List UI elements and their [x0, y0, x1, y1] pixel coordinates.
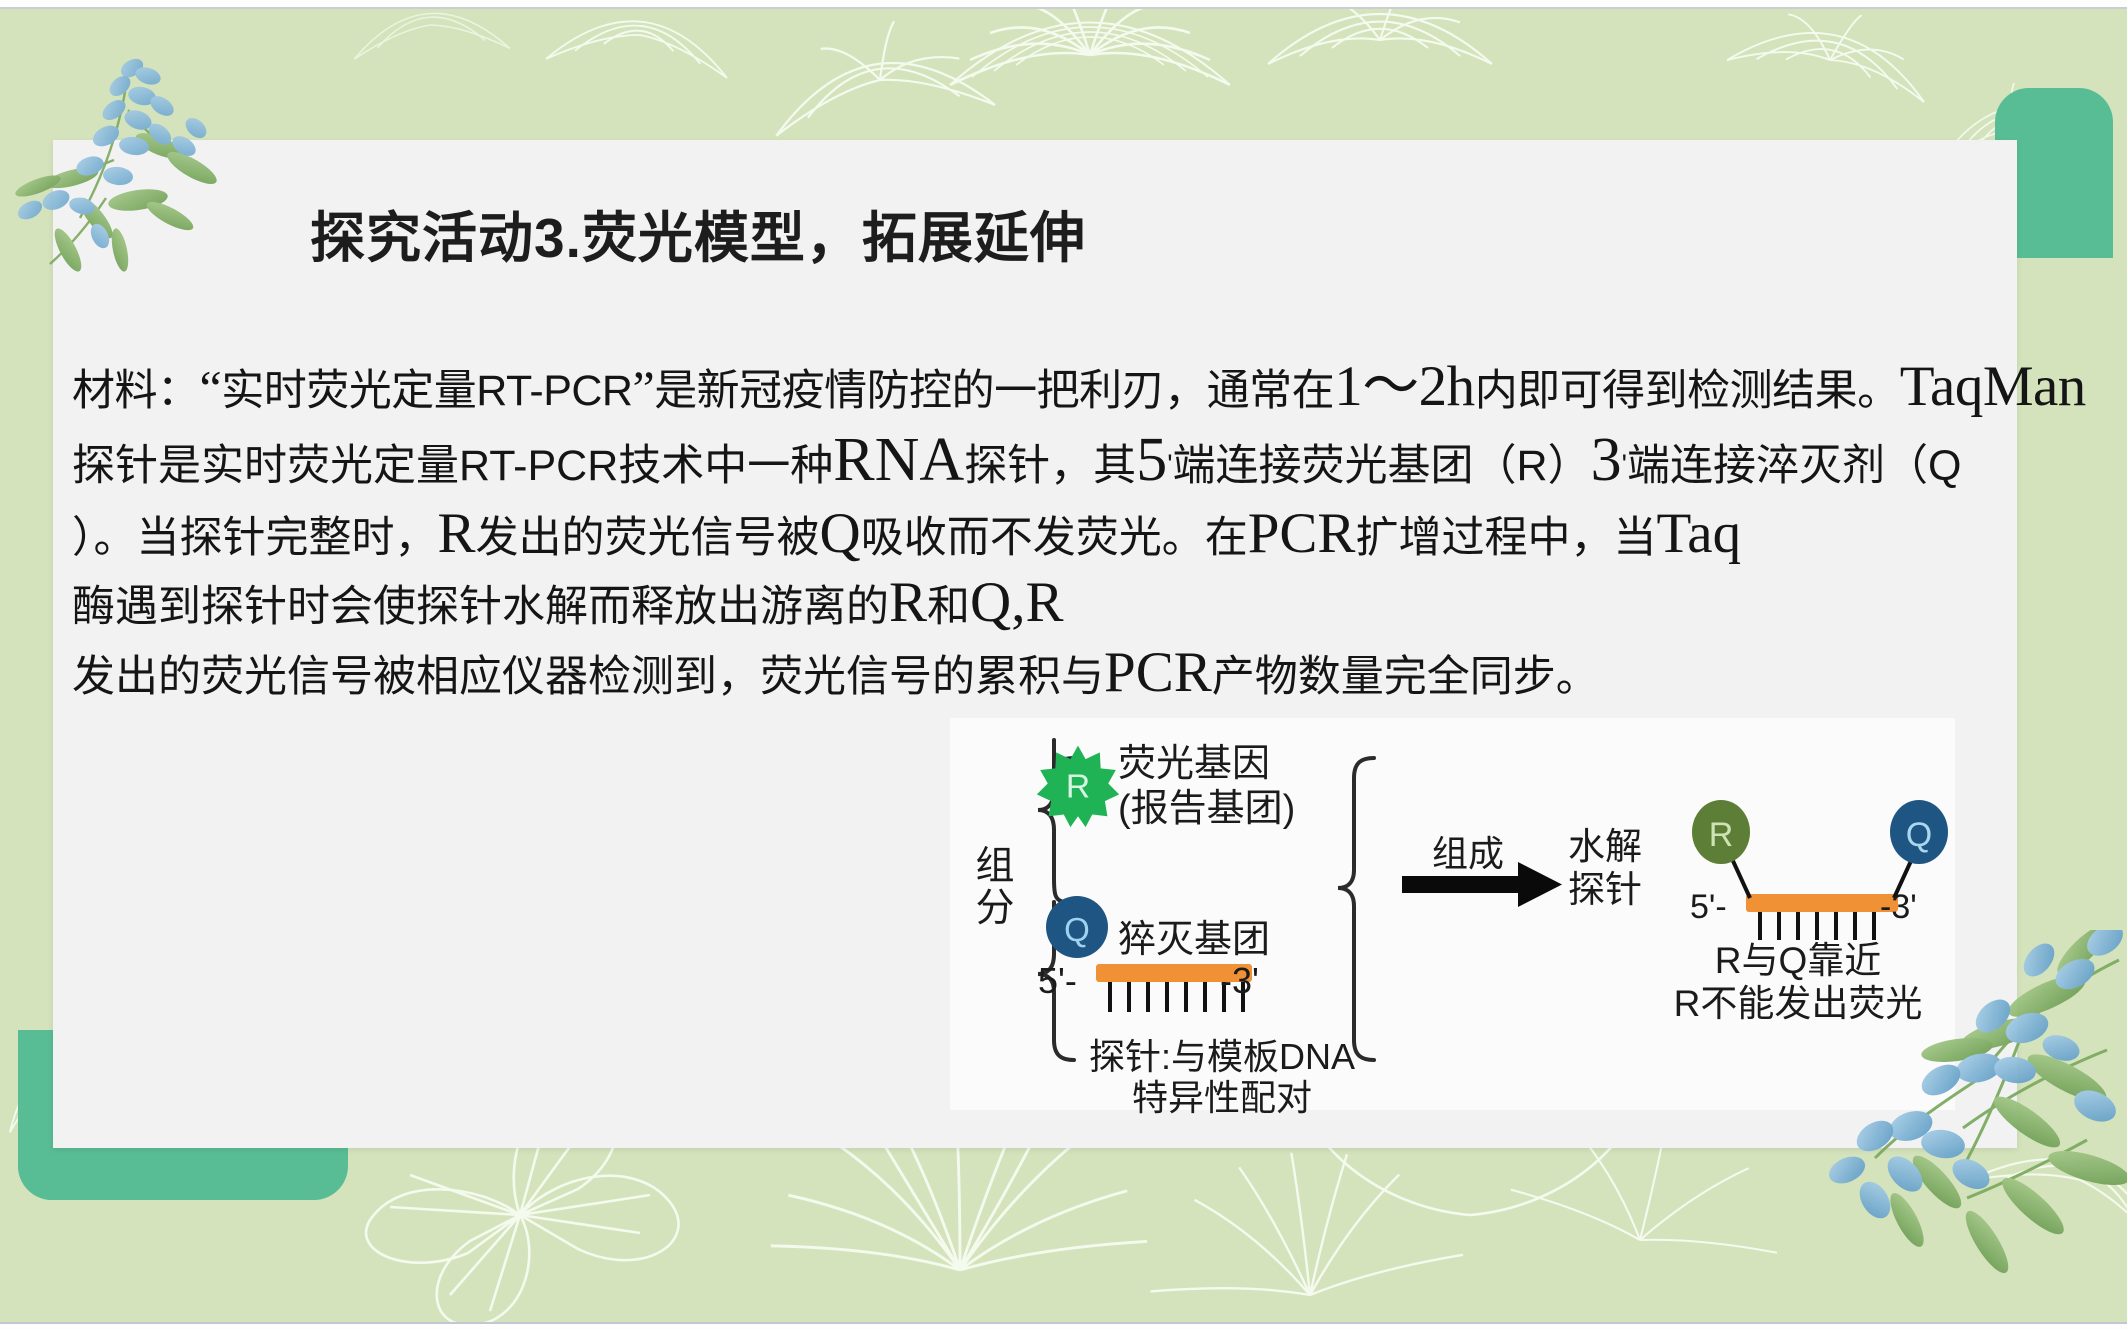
line5-seg-a: 发出的荧光信号被相应仪器检测到，荧光信号的累积与 [72, 653, 1104, 701]
line2-seg-a: 探针是实时荧光定量RT-PCR技术中一种 [72, 442, 833, 490]
diagram-caption-probe: 探针:与模板DNA 特异性配对 [1072, 1036, 1372, 1119]
line2-seg-b: RNA [833, 426, 964, 494]
diagram-label-3prime-right: -3' [1880, 888, 1917, 927]
line4-seg-a: 酶遇到探针时会使探针水解而释放出游离的 [72, 583, 889, 631]
line1-seg-f: 1～2h [1334, 355, 1475, 418]
paragraph-line-4: 酶遇到探针时会使探针水解而释放出游离的R和Q,R [72, 576, 2002, 630]
svg-text:Q: Q [1064, 911, 1090, 948]
line1-seg-a: 材料： [72, 367, 200, 415]
line3-seg-c: 发出的荧光信号被 [476, 514, 820, 562]
svg-text:Q: Q [1906, 816, 1932, 854]
line2-seg-c: 探针，其 [964, 442, 1136, 490]
quencher-circle-icon: Q [1044, 894, 1110, 960]
line2-seg-g: 3 [1591, 426, 1622, 494]
diagram-label-components: 组 分 [972, 846, 1018, 930]
line1-seg-e: 是新冠疫情防控的一把利刃，通常在 [654, 367, 1334, 415]
diagram-label-composition: 组成 [1432, 825, 1504, 877]
line2-seg-d: 5 [1136, 426, 1167, 494]
line4-seg-c: 和 [927, 583, 970, 631]
line3-seg-b: R [438, 502, 476, 565]
line1-seg-h: TaqMan [1900, 355, 2086, 418]
fluorophore-star-icon: R [1036, 744, 1120, 828]
line3-seg-e: 吸收而不发荧光。在 [861, 514, 1248, 562]
line5-seg-b: PCR [1104, 641, 1212, 704]
page-title: 探究活动3.荧光模型，拓展延伸 [310, 193, 1086, 273]
line4-seg-d: Q,R [970, 571, 1063, 634]
diagram-label-hydrolysis: 水解 探针 [1568, 826, 1642, 912]
taqman-probe-diagram: R Q R Q 组 分 荧光基因 (报告基团) 猝灭基团 5'- -3' 探针:… [950, 718, 1955, 1110]
line3-seg-a: ）。当探针完整时， [72, 514, 438, 562]
window-edge-bottom [0, 1322, 2127, 1330]
line3-seg-h: Taq [1656, 502, 1741, 565]
line1-seg-d: ” [632, 360, 654, 416]
svg-text:R: R [1709, 816, 1734, 854]
svg-text:R: R [1066, 769, 1090, 806]
line2-seg-f: 端连接荧光基团（R） [1173, 442, 1591, 490]
line2-seg-i: 端连接淬灭剂（Q [1627, 442, 1961, 490]
diagram-label-quencher: 猝灭基团 [1118, 908, 1270, 963]
line3-seg-g: 扩增过程中，当 [1355, 514, 1656, 562]
diagram-caption-result: R与Q靠近 R不能发出荧光 [1668, 940, 1928, 1026]
diagram-label-fluorophore: 荧光基因 (报告基团) [1118, 742, 1295, 832]
diagram-label-3prime-left: -3' [1220, 960, 1259, 1002]
paragraph-line-1: 材料：“实时荧光定量RT-PCR”是新冠疫情防控的一把利刃，通常在1～2h内即可… [72, 358, 2002, 415]
line5-seg-c: 产物数量完全同步。 [1212, 653, 1599, 701]
result-reporter-icon: R [1690, 798, 1752, 870]
line1-seg-b: “ [200, 360, 222, 416]
window-edge-top [0, 0, 2127, 9]
paragraph-line-5: 发出的荧光信号被相应仪器检测到，荧光信号的累积与PCR产物数量完全同步。 [72, 644, 2002, 701]
line1-seg-g: 内即可得到检测结果。 [1475, 367, 1900, 415]
diagram-label-5prime-left: 5'- [1038, 960, 1077, 1002]
paragraph-line-3: ）。当探针完整时，R发出的荧光信号被Q吸收而不发荧光。在PCR扩增过程中，当Ta… [72, 505, 2002, 562]
line3-seg-d: Q [820, 502, 861, 565]
line1-seg-c: 实时荧光定量RT-PCR [221, 367, 632, 415]
line4-seg-b: R [889, 571, 927, 634]
line3-seg-f: PCR [1248, 502, 1356, 565]
result-quencher-icon: Q [1888, 798, 1950, 870]
paragraph-line-2: 探针是实时荧光定量RT-PCR技术中一种RNA探针，其5'端连接荧光基团（R）3… [72, 429, 2002, 491]
material-paragraph: 材料：“实时荧光定量RT-PCR”是新冠疫情防控的一把利刃，通常在1～2h内即可… [72, 358, 2002, 701]
diagram-label-5prime-right: 5'- [1690, 888, 1727, 927]
